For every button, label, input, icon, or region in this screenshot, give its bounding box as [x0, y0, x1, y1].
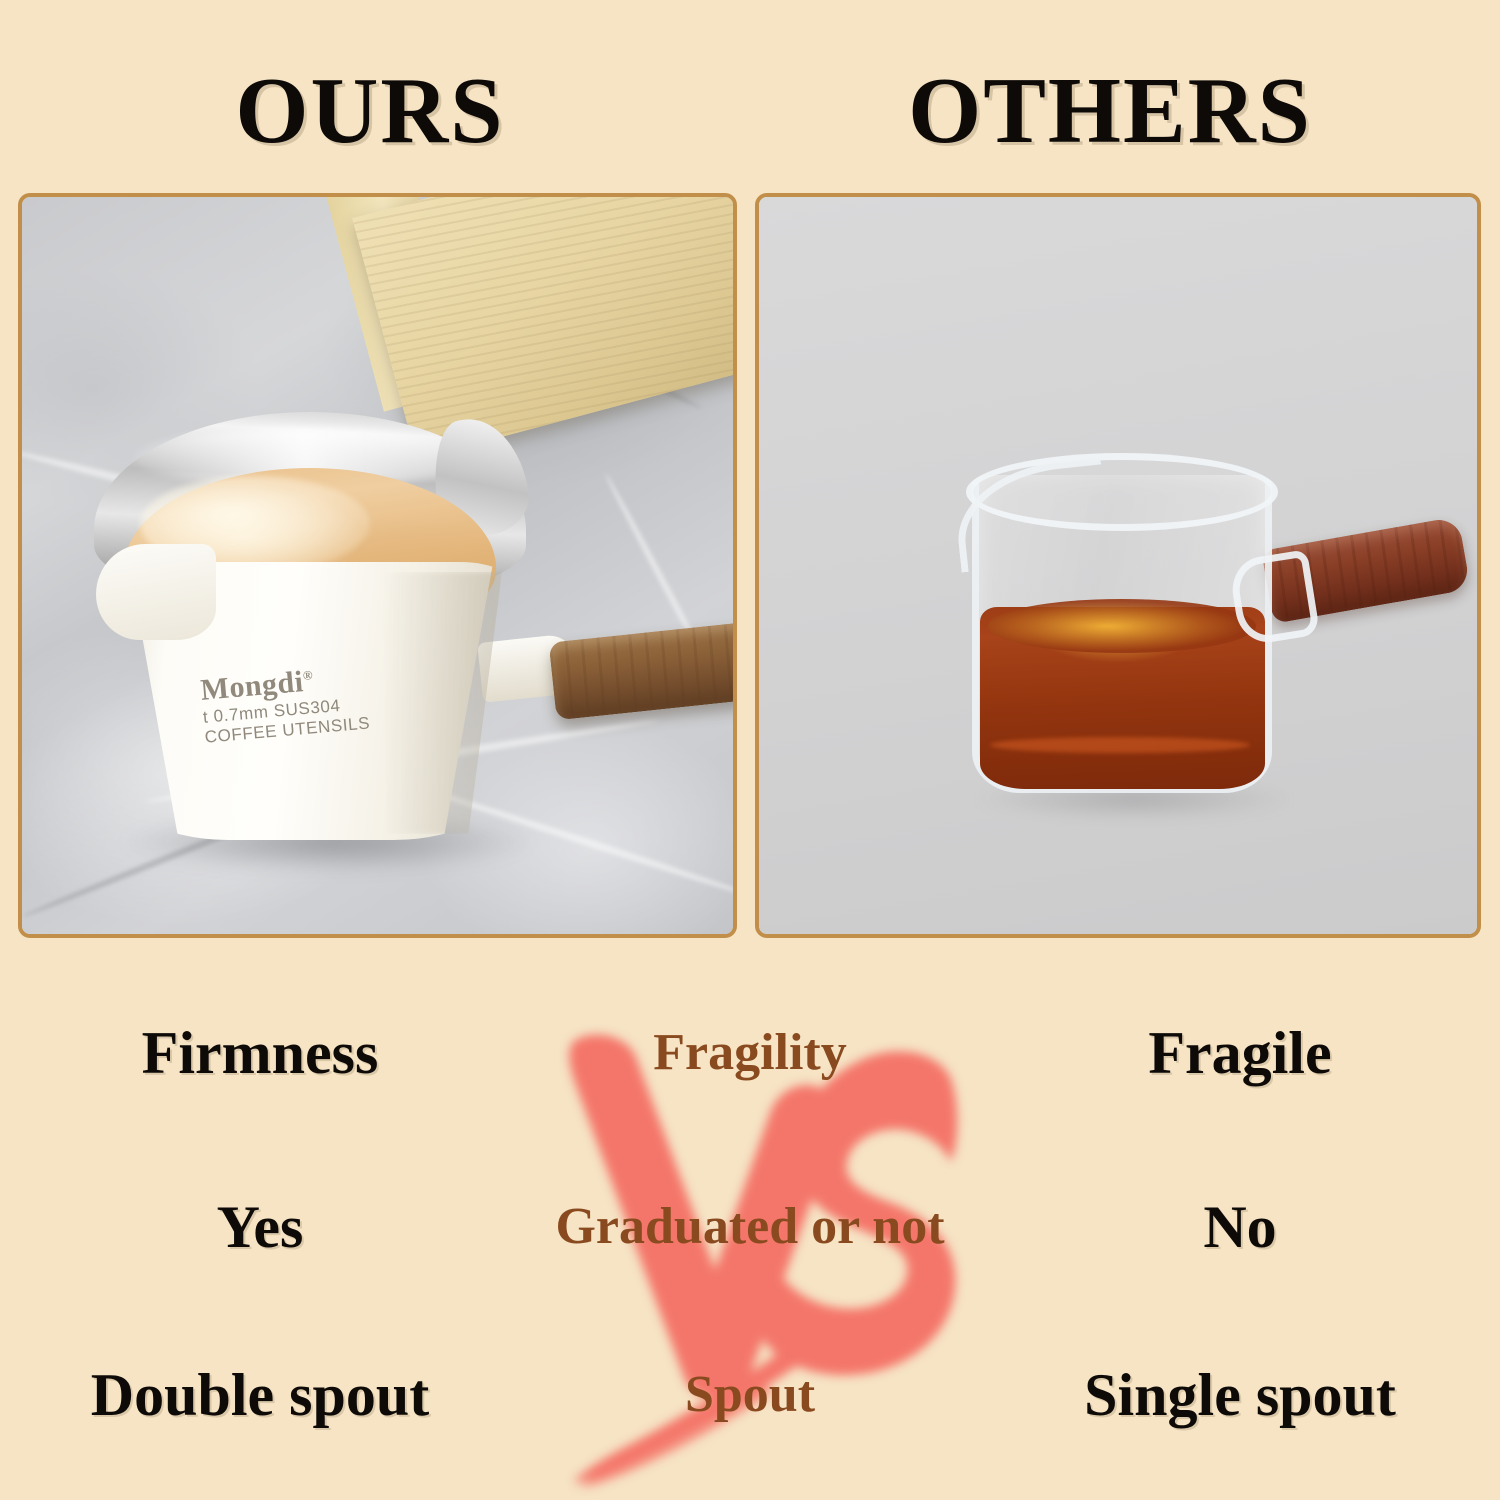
- attribute-label-2: Graduated or not: [500, 1182, 1000, 1272]
- ours-value-3: Double spout: [20, 1350, 500, 1440]
- header-others: OTHERS: [800, 56, 1420, 166]
- attribute-label-1: Fragility: [500, 1008, 1000, 1098]
- coffee-surface: [988, 599, 1256, 653]
- comparison-row: Firmness Fragility Fragile: [0, 1008, 1500, 1098]
- photo-panel-ours: Mongdi® t 0.7mm SUS304 COFFEE UTENSILS: [18, 193, 737, 938]
- others-value-2: No: [1000, 1182, 1480, 1272]
- steel-pitcher-product: Mongdi® t 0.7mm SUS304 COFFEE UTENSILS: [82, 412, 562, 842]
- comparison-row: Double spout Spout Single spout: [0, 1350, 1500, 1440]
- pitcher-left-lip: [96, 544, 216, 640]
- photo-panel-others: [755, 193, 1481, 938]
- attribute-label-3: Spout: [500, 1350, 1000, 1440]
- ours-value-1: Firmness: [20, 1008, 500, 1098]
- ours-value-2: Yes: [20, 1182, 500, 1272]
- glass-spout: [951, 457, 1111, 572]
- glass-pitcher-product: [934, 447, 1364, 797]
- others-value-3: Single spout: [1000, 1350, 1480, 1440]
- comparison-row: Yes Graduated or not No: [0, 1182, 1500, 1272]
- headers-bar: OURS OTHERS: [0, 56, 1500, 166]
- others-value-1: Fragile: [1000, 1008, 1480, 1098]
- coffee-reflection-band: [990, 737, 1250, 753]
- registered-mark-icon: ®: [302, 667, 313, 683]
- header-ours: OURS: [60, 56, 680, 166]
